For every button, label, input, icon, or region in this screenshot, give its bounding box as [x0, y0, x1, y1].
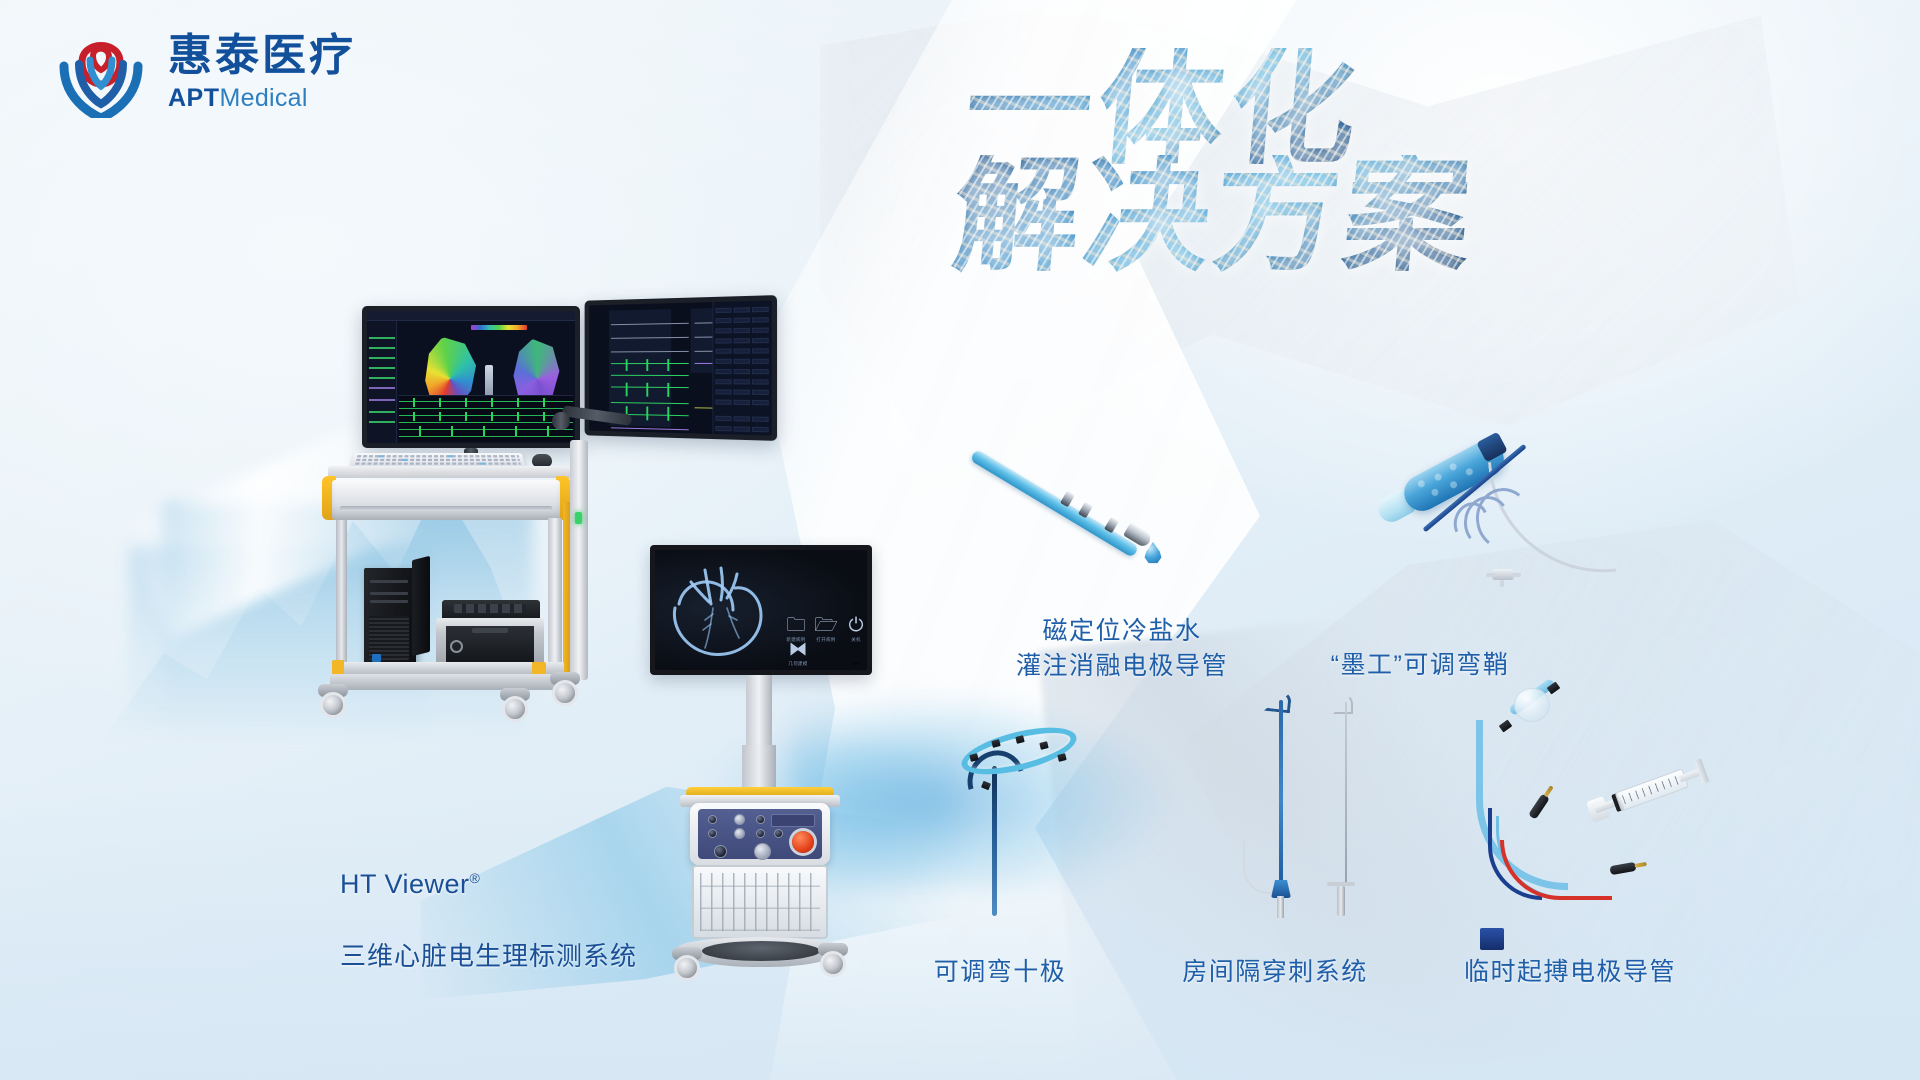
poster-canvas: 惠泰医疗 APTMedical 一体化 解决方案: [0, 0, 1920, 1080]
screen-brand-watermark: APT: [852, 661, 861, 666]
decapolar-catheter-image: [940, 720, 1110, 920]
pacing-cable-connector: [1480, 928, 1504, 950]
caption-steerable-sheath: “墨工”可调弯鞘: [1331, 648, 1510, 683]
laser-printer: [436, 600, 544, 666]
printer-handle: [472, 628, 508, 633]
brand-name-en: APTMedical: [168, 86, 356, 111]
cart-shelf: [340, 662, 564, 674]
workstation-tower: [364, 568, 416, 666]
geometry-icon[interactable]: ⧓几何建模: [783, 640, 813, 667]
caption-transseptal-system: 房间隔穿刺系统: [1182, 955, 1368, 990]
caption-ablation-catheter: 磁定位冷盐水 灌注消融电极导管: [1016, 614, 1228, 683]
brand-name-en-medical: Medical: [220, 84, 308, 112]
apt-medical-logo-mark: [52, 26, 150, 118]
sheath-curved-tip: [1264, 689, 1292, 714]
sheath-stem: [1277, 896, 1284, 918]
emergency-stop-button[interactable]: [792, 831, 814, 853]
panel-brand-badge: [771, 814, 815, 827]
caption-mapping-system-cn: 三维心脏电生理标测系统: [340, 939, 637, 975]
caption-mapping-system-en: HT Viewer®: [340, 866, 637, 903]
mapping-screen: [367, 311, 575, 443]
steerable-sheath-image: [1390, 440, 1690, 630]
printer-paper-tray: [454, 604, 526, 613]
inflation-syringe: [1588, 755, 1711, 827]
connector-pin-red: [1609, 862, 1636, 875]
printer-power-knob: [450, 640, 463, 653]
cart-frame-left: [336, 520, 347, 672]
brand-logo-text: 惠泰医疗 APTMedical: [168, 34, 356, 111]
display-neck: [746, 675, 772, 747]
cart-frame-right: [548, 518, 562, 678]
connector-control-panel: [690, 803, 830, 865]
power-status-led: [575, 512, 582, 524]
caption-pacing-catheter: 临时起搏电极导管: [1464, 955, 1676, 990]
needle-hub: [1337, 886, 1345, 916]
open-folder-icon[interactable]: 🗁打开病例: [813, 616, 839, 643]
caption-mapping-system: HT Viewer® 三维心脏电生理标测系统: [340, 830, 637, 1011]
heart-display-cart: 🗀新建病例 🗁打开病例 ⏻关机 ⧓几何建模 APT: [650, 545, 910, 1025]
headline-line-2: 解决方案: [949, 155, 1480, 276]
hemostasis-valve: [1486, 564, 1520, 586]
mapping-ecg-panel: [399, 395, 573, 441]
temporary-pacing-catheter-image: [1470, 690, 1730, 950]
brand-logo: 惠泰医疗 APTMedical: [52, 26, 356, 118]
cart-base-plate: [330, 674, 574, 690]
needle-curved-tip: [1333, 694, 1353, 714]
pacing-balloon: [1514, 688, 1550, 722]
caption-decapolar-catheter: 可调弯十极: [934, 955, 1067, 990]
ablation-catheter-image: [985, 440, 1195, 590]
brand-name-cn: 惠泰医疗: [168, 34, 356, 78]
power-icon[interactable]: ⏻关机: [843, 616, 867, 643]
recording-channel-table: [712, 300, 771, 435]
cart-vertical-post: [570, 440, 588, 680]
brand-name-en-apt: APT: [168, 84, 220, 112]
storage-basket: [692, 865, 828, 939]
transseptal-needle: [1345, 702, 1347, 882]
transseptal-puncture-system-image: [1235, 690, 1395, 920]
heart-display-monitor: 🗀新建病例 🗁打开病例 ⏻关机 ⧓几何建模 APT: [650, 545, 872, 675]
heart-display-screen: 🗀新建病例 🗁打开病例 ⏻关机 ⧓几何建模 APT: [655, 550, 867, 670]
cpu-badge-icon: [372, 654, 381, 662]
3d-mapping-monitor: [362, 306, 580, 448]
display-column: [742, 745, 776, 789]
voltage-colorbar: [471, 325, 527, 330]
cart-top-surface: [328, 466, 578, 478]
keyboard-drawer: [332, 480, 560, 520]
headline-calligraphy: 一体化 解决方案: [960, 48, 1640, 358]
heart-illustration: [665, 564, 773, 660]
monitor-arm-joint: [552, 412, 570, 430]
